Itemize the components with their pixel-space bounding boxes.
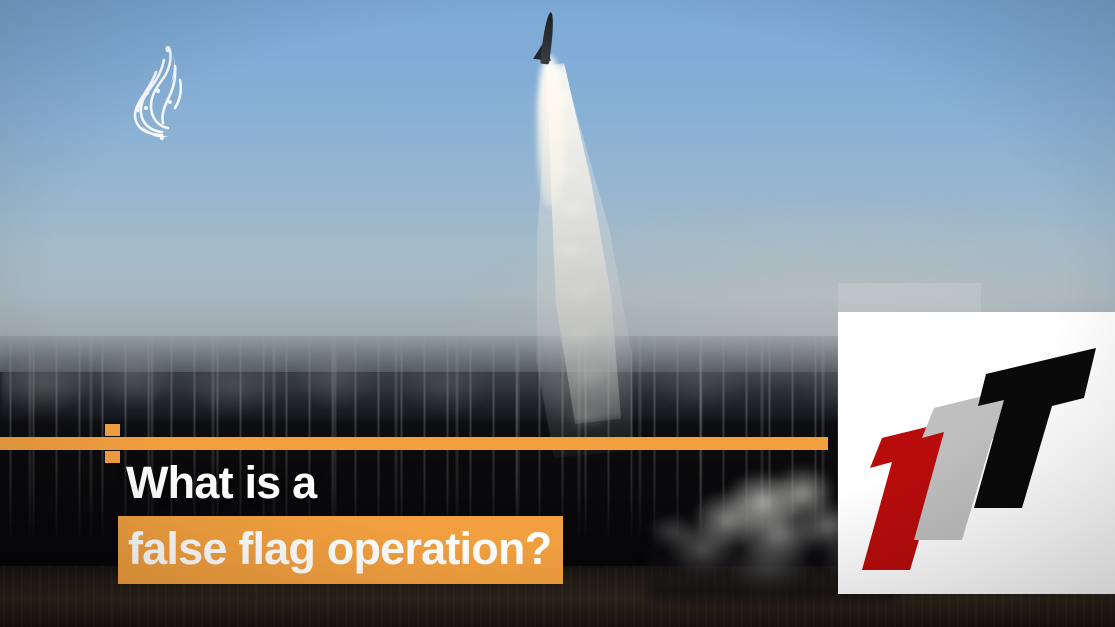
partner-logo-card [838, 312, 1115, 594]
orange-rule [0, 437, 828, 450]
headline-line-2-highlight: false flag operation? [118, 516, 563, 584]
logo-card-ghost-block [838, 283, 981, 313]
ttt-logo-icon [860, 342, 1100, 570]
rule-marker [105, 424, 120, 463]
headline-line-2: false flag operation? [128, 526, 551, 571]
video-thumbnail: What is a false flag operation? [0, 0, 1115, 627]
rule-marker-bottom [105, 451, 120, 463]
rule-marker-top [105, 424, 120, 436]
headline-line-1: What is a [126, 460, 316, 505]
al-jazeera-logo [118, 46, 206, 146]
